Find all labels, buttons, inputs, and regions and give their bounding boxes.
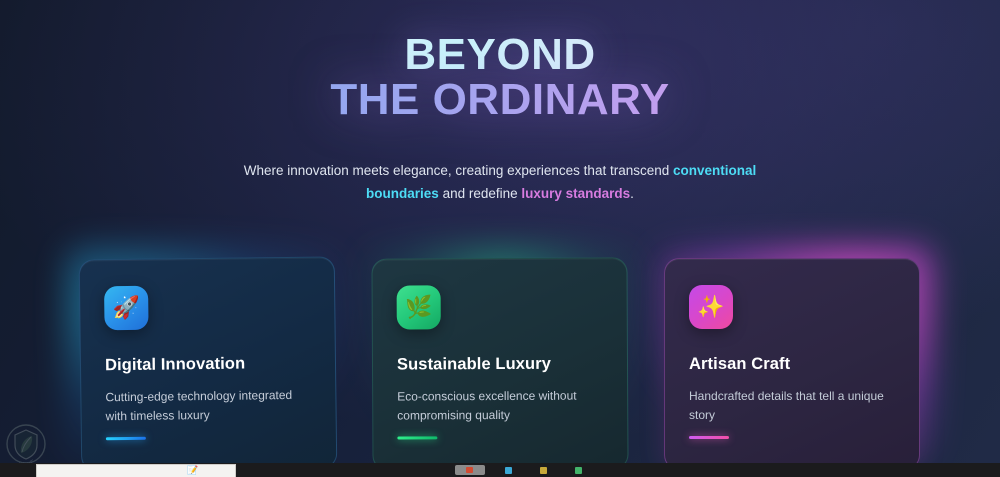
subtitle-text-1: Where innovation meets elegance, creatin…	[244, 163, 673, 178]
subtitle-highlight-luxury-standards: luxury standards	[521, 186, 630, 201]
card-title: Artisan Craft	[689, 355, 895, 374]
subtitle-text-2: and redefine	[439, 186, 522, 201]
taskbar-window-preview[interactable]: 📝	[36, 464, 236, 477]
headline-line-2: THE ORDINARY	[0, 79, 1000, 120]
taskbar-app-2[interactable]	[466, 467, 473, 473]
page-title: BEYOND THE ORDINARY	[0, 34, 1000, 121]
feature-card-grid: 🚀 Digital Innovation Cutting-edge techno…	[0, 252, 1000, 477]
page-root: BEYOND THE ORDINARY Where innovation mee…	[0, 0, 1000, 477]
card-title: Sustainable Luxury	[397, 354, 603, 374]
feature-card-artisan-craft[interactable]: ✨ Artisan Craft Handcrafted details that…	[664, 258, 920, 470]
taskbar[interactable]: 📝	[0, 463, 1000, 477]
leaf-icon: 🌿	[397, 285, 441, 329]
feature-card-sustainable-luxury-wrapper: 🌿 Sustainable Luxury Eco-conscious excel…	[372, 252, 628, 472]
feature-card-digital-innovation-wrapper: 🚀 Digital Innovation Cutting-edge techno…	[80, 252, 336, 472]
card-title: Digital Innovation	[105, 354, 311, 376]
hero-subtitle: Where innovation meets elegance, creatin…	[220, 159, 780, 205]
headline-line-1: BEYOND	[0, 34, 1000, 75]
rocket-icon: 🚀	[104, 286, 149, 331]
card-accent-bar	[397, 436, 437, 439]
card-description: Eco-conscious excellence without comprom…	[397, 386, 603, 426]
subtitle-text-3: .	[630, 186, 634, 201]
hero-section: BEYOND THE ORDINARY Where innovation mee…	[0, 0, 1000, 205]
card-accent-bar	[106, 437, 146, 440]
feature-card-sustainable-luxury[interactable]: 🌿 Sustainable Luxury Eco-conscious excel…	[371, 257, 628, 470]
card-description: Handcrafted details that tell a unique s…	[689, 387, 895, 426]
sparkles-icon: ✨	[689, 285, 733, 329]
feature-card-artisan-craft-wrapper: ✨ Artisan Craft Handcrafted details that…	[664, 252, 920, 472]
taskbar-window-icon: 📝	[187, 464, 198, 477]
taskbar-app-4[interactable]	[540, 467, 547, 474]
taskbar-app-5[interactable]	[575, 467, 582, 474]
card-description: Cutting-edge technology integrated with …	[105, 386, 311, 427]
taskbar-app-3[interactable]	[505, 467, 512, 474]
card-accent-bar	[689, 436, 729, 439]
feature-card-digital-innovation[interactable]: 🚀 Digital Innovation Cutting-edge techno…	[79, 256, 338, 471]
